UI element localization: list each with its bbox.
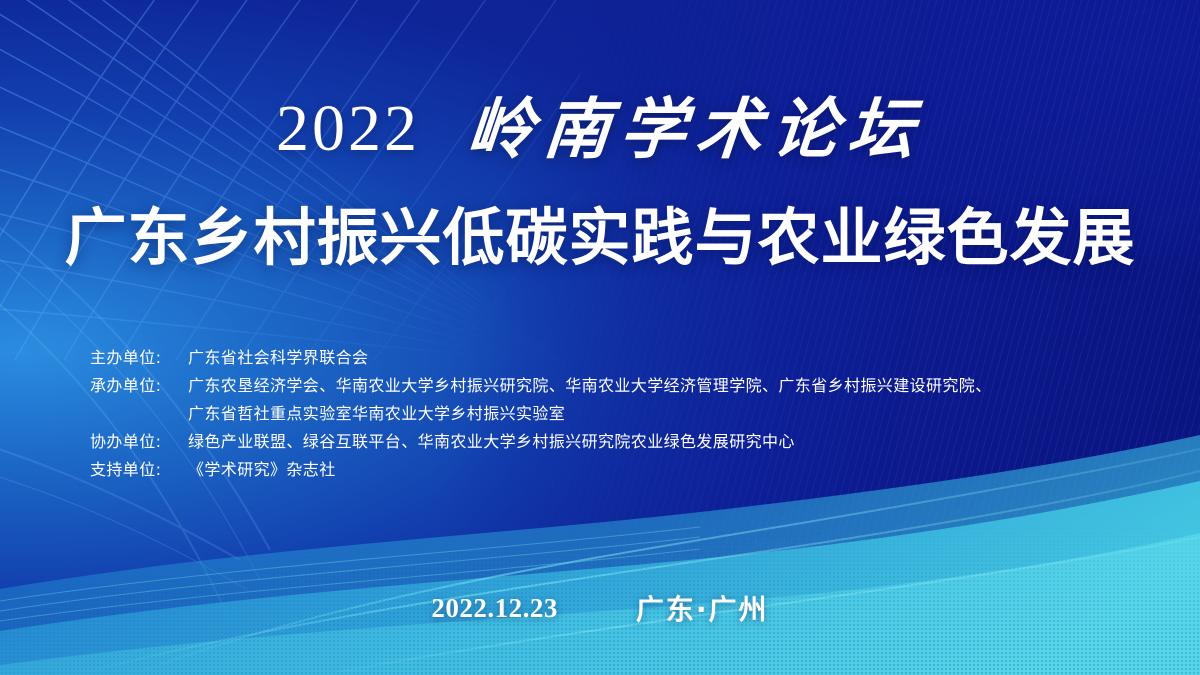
organizer-row-supporter: 协办单位: 绿色产业联盟、绿谷互联平台、华南农业大学乡村振兴研究院农业绿色发展研… [90,428,1130,456]
poster-footer: 2022.12.23广东·广州 [0,588,1200,628]
organizer-value-host: 广东省社会科学界联合会 [188,344,1130,372]
organizer-row-host: 主办单位: 广东省社会科学界联合会 [90,344,1130,372]
organizer-label-supporter: 协办单位: [90,428,188,456]
poster-title: 2022岭南学术论坛 [0,96,1200,162]
conference-poster: 2022岭南学术论坛 广东乡村振兴低碳实践与农业绿色发展 主办单位: 广东省社会… [0,0,1200,675]
organizer-list: 主办单位: 广东省社会科学界联合会 承办单位: 广东农垦经济学会、华南农业大学乡… [90,344,1130,484]
organizer-label-coorganizer: 承办单位: [90,372,188,400]
title-forum-name: 岭南学术论坛 [465,96,927,162]
organizer-row-coorganizer: 承办单位: 广东农垦经济学会、华南农业大学乡村振兴研究院、华南农业大学经济管理学… [90,372,1130,400]
organizer-value-supporter: 绿色产业联盟、绿谷互联平台、华南农业大学乡村振兴研究院农业绿色发展研究中心 [188,428,1130,456]
organizer-label-host: 主办单位: [90,344,188,372]
organizer-row-coorganizer-continued: 承办单位: 广东省哲社重点实验室华南农业大学乡村振兴实验室 [90,400,1130,428]
title-year: 2022 [276,96,420,162]
event-date: 2022.12.23 [431,593,558,624]
organizer-label-sponsor: 支持单位: [90,456,188,484]
organizer-value-sponsor: 《学术研究》杂志社 [188,456,1130,484]
organizer-value-coorganizer-continued: 广东省哲社重点实验室华南农业大学乡村振兴实验室 [188,400,1130,428]
organizer-row-sponsor: 支持单位: 《学术研究》杂志社 [90,456,1130,484]
poster-subtitle: 广东乡村振兴低碳实践与农业绿色发展 [0,205,1200,272]
event-location: 广东·广州 [636,588,769,628]
organizer-value-coorganizer: 广东农垦经济学会、华南农业大学乡村振兴研究院、华南农业大学经济管理学院、广东省乡… [188,372,1130,400]
